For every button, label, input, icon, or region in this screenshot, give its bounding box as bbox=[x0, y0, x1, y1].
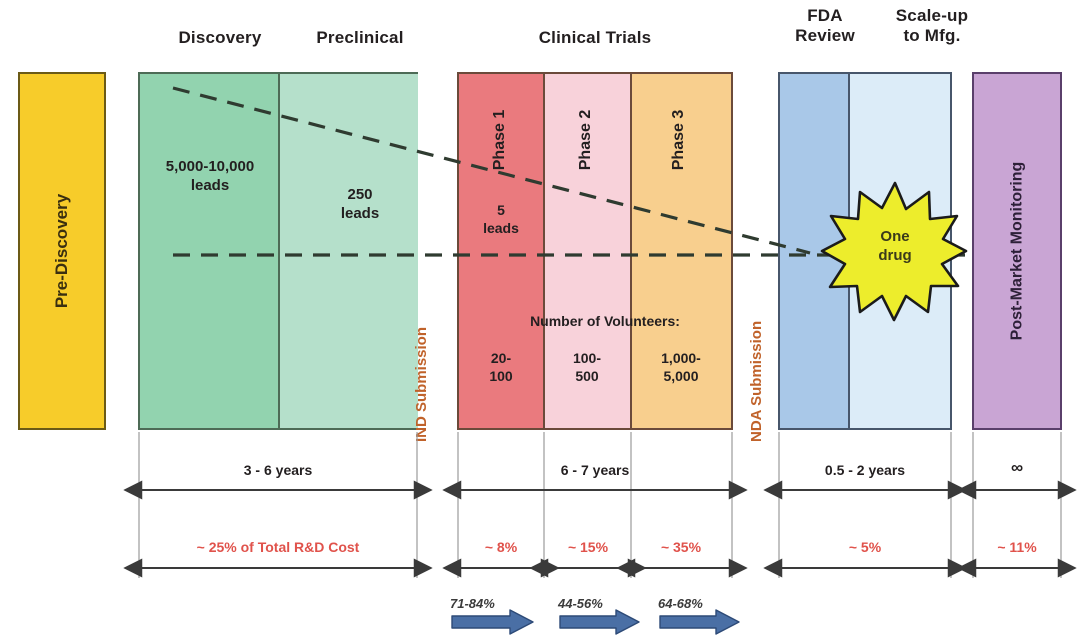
stage-discovery-leads-line1: 5,000-10,000 bbox=[145, 158, 275, 177]
stage-discovery-leads: 5,000-10,000 leads bbox=[145, 158, 275, 196]
stage-post-market-label: Post-Market Monitoring bbox=[1008, 162, 1026, 341]
header-scale-up-line1: Scale-up bbox=[872, 6, 992, 26]
stage-preclinical-leads-line1: 250 bbox=[300, 186, 420, 205]
stage-pre-discovery[interactable]: Pre-Discovery bbox=[18, 72, 106, 430]
stage-phase2-volunteers-line1: 100- bbox=[548, 350, 626, 368]
stage-preclinical[interactable] bbox=[280, 74, 418, 428]
header-fda-review: FDA Review bbox=[775, 6, 875, 45]
stage-phase3-volunteers: 1,000- 5,000 bbox=[638, 350, 724, 385]
duration-post-market: ∞ bbox=[967, 458, 1067, 478]
cost-fda-scaleup: ~ 5% bbox=[825, 539, 905, 555]
stage-phase1-leads: 5 leads bbox=[462, 202, 540, 237]
stage-post-market-monitoring[interactable]: Post-Market Monitoring bbox=[972, 72, 1062, 430]
phase3-success-label: 64-68% bbox=[658, 596, 703, 611]
cost-phase3: ~ 35% bbox=[641, 539, 721, 555]
stage-preclinical-leads-line2: leads bbox=[300, 205, 420, 224]
drug-development-pipeline-diagram: Discovery Preclinical Clinical Trials FD… bbox=[0, 0, 1080, 643]
stage-phase3-volunteers-line2: 5,000 bbox=[638, 368, 724, 386]
stage-phase2-volunteers: 100- 500 bbox=[548, 350, 626, 385]
phase1-success-label: 71-84% bbox=[450, 596, 495, 611]
stage-preclinical-leads: 250 leads bbox=[300, 186, 420, 224]
header-clinical-trials-text: Clinical Trials bbox=[460, 28, 730, 48]
header-scale-up: Scale-up to Mfg. bbox=[872, 6, 992, 45]
duration-fda-scaleup: 0.5 - 2 years bbox=[765, 462, 965, 478]
cost-phase2: ~ 15% bbox=[548, 539, 628, 555]
measure-guides bbox=[139, 432, 1061, 578]
nda-submission-label: NDA Submission bbox=[748, 321, 765, 442]
stage-phase3-label: Phase 3 bbox=[670, 110, 688, 170]
cost-post-market: ~ 11% bbox=[977, 539, 1057, 555]
stage-discovery[interactable] bbox=[140, 74, 280, 428]
stage-phase2-volunteers-line2: 500 bbox=[548, 368, 626, 386]
phase1-success-arrow bbox=[452, 610, 533, 634]
header-scale-up-line2: to Mfg. bbox=[872, 26, 992, 46]
stage-post-market-label-wrap: Post-Market Monitoring bbox=[974, 74, 1060, 428]
stage-phase1-leads-line2: leads bbox=[462, 220, 540, 238]
duration-discovery-preclinical: 3 - 6 years bbox=[178, 462, 378, 478]
header-fda-review-line2: Review bbox=[775, 26, 875, 46]
duration-clinical-trials: 6 - 7 years bbox=[495, 462, 695, 478]
one-drug-line1: One bbox=[855, 228, 935, 247]
stage-phase2-label-wrap: Phase 2 bbox=[543, 80, 630, 200]
stage-phase1-label: Phase 1 bbox=[491, 110, 509, 170]
stage-phase3-label-wrap: Phase 3 bbox=[630, 80, 729, 200]
cost-phase1: ~ 8% bbox=[461, 539, 541, 555]
stage-pre-discovery-label-wrap: Pre-Discovery bbox=[20, 74, 104, 428]
stage-phase1-leads-line1: 5 bbox=[462, 202, 540, 220]
stage-phase2-label: Phase 2 bbox=[577, 110, 595, 170]
stage-pre-discovery-label: Pre-Discovery bbox=[52, 194, 72, 308]
phase2-success-label: 44-56% bbox=[558, 596, 603, 611]
stage-fda-review[interactable] bbox=[780, 74, 850, 428]
stage-phase3-volunteers-line1: 1,000- bbox=[638, 350, 724, 368]
stage-phase1-volunteers-line2: 100 bbox=[462, 368, 540, 386]
header-fda-review-line1: FDA bbox=[775, 6, 875, 26]
header-preclinical: Preclinical bbox=[290, 28, 430, 48]
phase3-success-arrow bbox=[660, 610, 739, 634]
header-discovery: Discovery bbox=[150, 28, 290, 48]
one-drug-label: One drug bbox=[855, 228, 935, 266]
one-drug-line2: drug bbox=[855, 247, 935, 266]
stage-phase1-label-wrap: Phase 1 bbox=[457, 80, 543, 200]
phase2-success-arrow bbox=[560, 610, 639, 634]
cost-discovery-preclinical: ~ 25% of Total R&D Cost bbox=[178, 539, 378, 555]
stage-phase1-volunteers-line1: 20- bbox=[462, 350, 540, 368]
volunteers-header: Number of Volunteers: bbox=[480, 313, 730, 331]
ind-submission-label: IND Submission bbox=[413, 327, 430, 442]
stage-discovery-leads-line2: leads bbox=[145, 177, 275, 196]
stage-phase1-volunteers: 20- 100 bbox=[462, 350, 540, 385]
stage-group-discovery-preclinical bbox=[138, 72, 418, 430]
success-rate-arrows bbox=[452, 610, 739, 634]
